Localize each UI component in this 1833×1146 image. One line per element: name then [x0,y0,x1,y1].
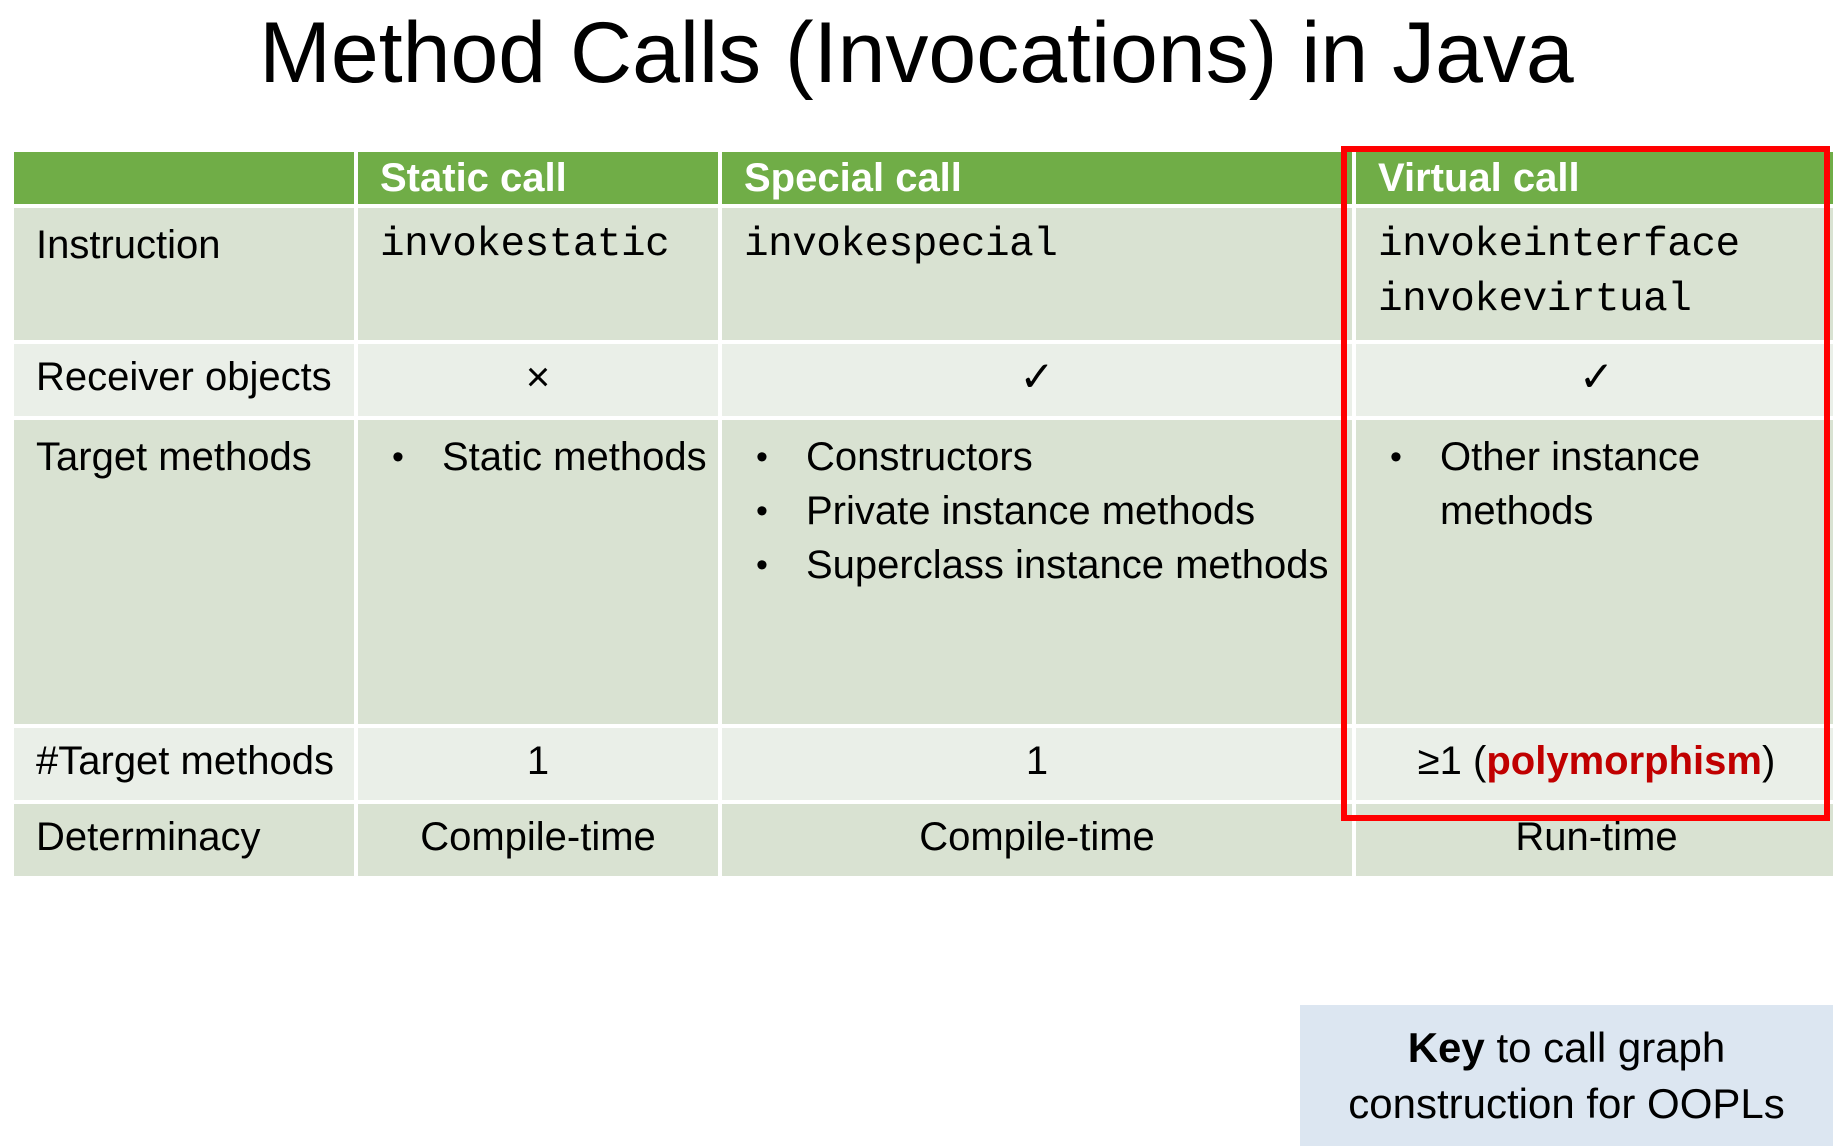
cell-receiver-special-check-icon: ✓ [722,344,1352,416]
row-label-target-methods: Target methods [14,420,354,724]
cell-determinacy-virtual: Run-time [1356,804,1833,876]
bullet-list-static: Static methods [358,430,718,484]
cell-num-target-virtual: ≥1 (polymorphism) [1356,728,1833,800]
cell-target-special: Constructors Private instance methods Su… [722,420,1352,724]
bullet-list-special: Constructors Private instance methods Su… [722,430,1352,592]
column-header-virtual-call: Virtual call [1356,152,1833,204]
key-callout-box: Key to call graph construction for OOPLs [1300,1005,1833,1146]
cell-receiver-static-cross-icon: × [358,344,718,416]
num-target-virtual-prefix: ≥1 ( [1418,739,1487,783]
key-callout-emphasis: Key [1408,1024,1485,1071]
cell-receiver-virtual-check-icon: ✓ [1356,344,1833,416]
cell-target-virtual: Other instance methods [1356,420,1833,724]
row-label-instruction: Instruction [14,208,354,340]
column-header-special-call: Special call [722,152,1352,204]
cell-num-target-special: 1 [722,728,1352,800]
list-item: Static methods [392,430,718,484]
cell-instruction-virtual: invokeinterface invokevirtual [1356,208,1833,340]
instruction-static-line-1: invokestatic [380,218,718,273]
key-callout-text: Key to call graph construction for OOPLs [1310,1020,1823,1132]
cell-instruction-special: invokespecial [722,208,1352,340]
row-label-receiver-objects: Receiver objects [14,344,354,416]
num-target-virtual-suffix: ) [1762,739,1775,783]
list-item: Other instance methods [1390,430,1833,538]
table-row-num-target-methods: #Target methods 1 1 ≥1 (polymorphism) [14,728,1833,800]
row-label-num-target-methods: #Target methods [14,728,354,800]
column-header-blank [14,152,354,204]
cell-determinacy-static: Compile-time [358,804,718,876]
table-header-row: Static call Special call Virtual call [14,152,1833,204]
cell-num-target-static: 1 [358,728,718,800]
instruction-special-line-1: invokespecial [744,218,1352,273]
list-item: Superclass instance methods [756,538,1352,592]
bullet-list-virtual: Other instance methods [1356,430,1833,538]
cell-instruction-static: invokestatic [358,208,718,340]
cell-target-static: Static methods [358,420,718,724]
instruction-virtual-line-1: invokeinterface [1378,218,1833,273]
method-calls-table: Static call Special call Virtual call In… [10,148,1833,880]
row-label-determinacy: Determinacy [14,804,354,876]
table-row-target-methods: Target methods Static methods Constructo… [14,420,1833,724]
list-item: Private instance methods [756,484,1352,538]
table-row-receiver-objects: Receiver objects × ✓ ✓ [14,344,1833,416]
list-item: Constructors [756,430,1352,484]
column-header-static-call: Static call [358,152,718,204]
page-title: Method Calls (Invocations) in Java [0,0,1833,112]
table-row-instruction: Instruction invokestatic invokespecial i… [14,208,1833,340]
table-row-determinacy: Determinacy Compile-time Compile-time Ru… [14,804,1833,876]
cell-determinacy-special: Compile-time [722,804,1352,876]
polymorphism-emphasis: polymorphism [1486,739,1762,783]
instruction-virtual-line-2: invokevirtual [1378,273,1833,328]
